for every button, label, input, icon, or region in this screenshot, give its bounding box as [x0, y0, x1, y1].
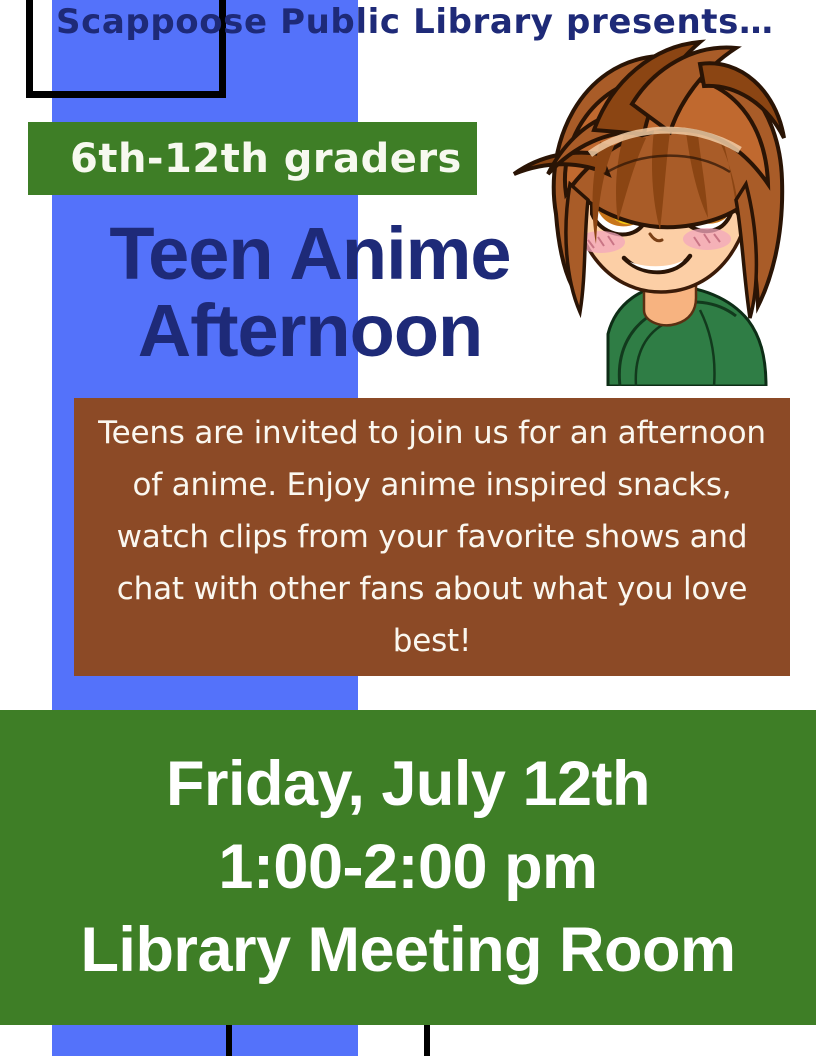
poster-canvas: Scappoose Public Library presents… 6th-1… — [0, 0, 816, 1056]
description-text: Teens are invited to join us for an afte… — [90, 407, 774, 667]
black-tick-right-decoration — [424, 1025, 430, 1056]
page-title: Teen Anime Afternoon — [0, 218, 620, 367]
event-date: Friday, July 12th — [166, 743, 650, 826]
event-time: 1:00-2:00 pm — [218, 826, 597, 909]
black-tick-left-decoration — [226, 1025, 232, 1056]
audience-band-label: 6th-12th graders — [70, 136, 462, 182]
description-box: Teens are invited to join us for an afte… — [74, 398, 790, 676]
audience-band: 6th-12th graders — [28, 122, 477, 195]
event-location: Library Meeting Room — [80, 909, 735, 992]
title-line-2: Afternoon — [0, 295, 620, 368]
event-details-band: Friday, July 12th 1:00-2:00 pm Library M… — [0, 710, 816, 1025]
title-line-1: Teen Anime — [0, 218, 620, 291]
